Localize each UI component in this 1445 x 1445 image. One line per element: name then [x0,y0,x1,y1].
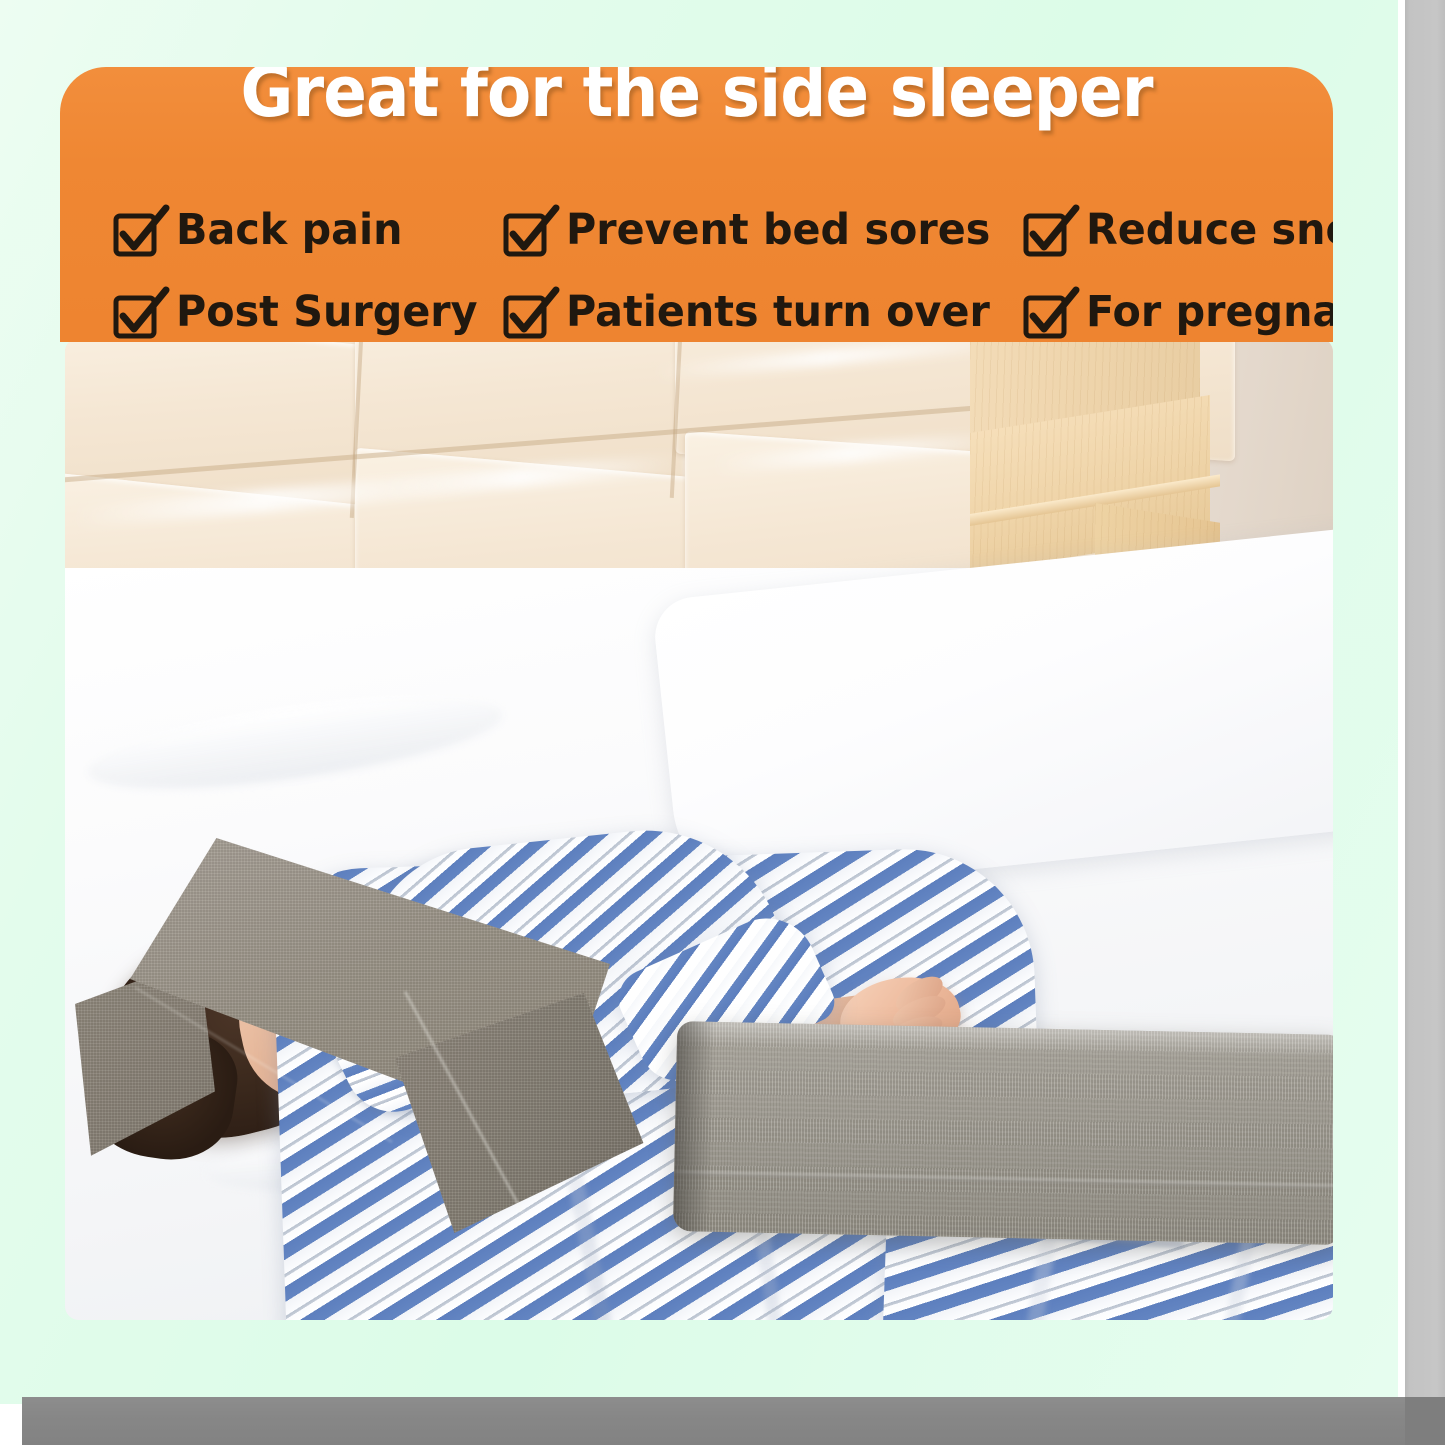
horizontal-scrollbar[interactable] [22,1397,1445,1445]
feature-row: Back pain Prevent bed sores [112,189,1333,271]
wedge-pillow [75,838,635,1228]
sheet-fold [82,679,508,807]
checkbox-checked-icon [1022,290,1066,334]
feature-item-patients-turn-over: Patients turn over [502,288,1022,336]
checkbox-checked-icon [112,290,156,334]
product-photo [65,338,1333,1320]
checkbox-checked-icon [112,208,156,252]
feature-row: Post Surgery Patients turn over [112,271,1333,342]
checkbox-checked-icon [502,290,546,334]
feature-item-prevent-bed-sores: Prevent bed sores [502,206,1022,254]
feature-item-for-pregnancy: For pregnancy [1022,288,1333,336]
feature-label: For pregnancy [1086,288,1333,336]
product-image-viewer: Great for the side sleeper Back pain [0,0,1445,1445]
feature-item-back-pain: Back pain [112,206,502,254]
feature-item-post-surgery: Post Surgery [112,288,502,336]
promo-banner: Great for the side sleeper Back pain [60,67,1333,342]
feature-label: Post Surgery [176,288,478,336]
banner-title: Great for the side sleeper [111,67,1282,135]
scrollbar-corner [1405,1397,1445,1445]
checkbox-checked-icon [1022,208,1066,252]
feature-item-reduce-snoring: Reduce snoring [1022,206,1333,254]
feature-label: Prevent bed sores [566,206,990,254]
feature-label: Reduce snoring [1086,206,1333,254]
vertical-scrollbar[interactable] [1404,0,1445,1399]
bolster-cushion [673,1021,1333,1245]
feature-label: Back pain [176,206,403,254]
checkbox-checked-icon [502,208,546,252]
feature-list: Back pain Prevent bed sores [112,189,1333,342]
cushion-shadow [673,1021,715,1232]
feature-label: Patients turn over [566,288,990,336]
